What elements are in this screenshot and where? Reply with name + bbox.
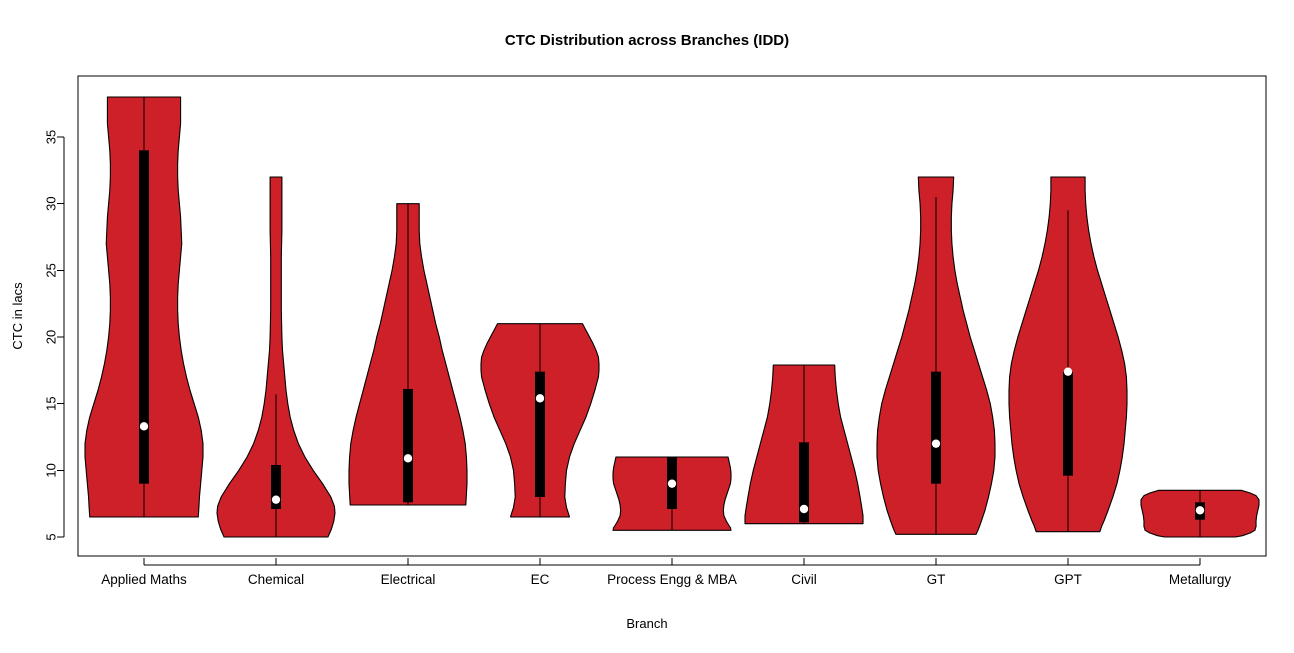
x-axis-tick-label: Chemical <box>248 572 304 587</box>
median-dot <box>536 394 544 402</box>
median-dot <box>404 454 412 462</box>
median-dot <box>1064 367 1072 375</box>
iqr-box <box>931 372 941 484</box>
chart-title: CTC Distribution across Branches (IDD) <box>505 32 789 49</box>
iqr-box <box>1063 372 1073 476</box>
y-axis-tick-label: 30 <box>44 196 59 210</box>
y-axis-tick-label: 10 <box>44 463 59 477</box>
violin-plot: CTC Distribution across Branches (IDD) C… <box>0 0 1294 653</box>
median-dot <box>272 495 280 503</box>
chart-root: CTC Distribution across Branches (IDD) C… <box>0 0 1294 653</box>
x-axis-tick-label: Metallurgy <box>1169 572 1232 587</box>
y-axis-title: CTC in lacs <box>10 282 25 350</box>
x-axis-tick-label: Applied Maths <box>101 572 187 587</box>
x-axis-tick-label: EC <box>531 572 550 587</box>
violin-metallurgy <box>1141 490 1259 537</box>
iqr-box <box>535 372 545 497</box>
y-axis-tick-label: 20 <box>44 330 59 344</box>
y-axis-tick-label: 25 <box>44 263 59 277</box>
median-dot <box>932 439 940 447</box>
y-axis-tick-label: 5 <box>44 533 59 540</box>
median-dot <box>800 505 808 513</box>
x-axis-tick-label: Process Engg & MBA <box>607 572 737 587</box>
x-axis-tick-label: GPT <box>1054 572 1082 587</box>
y-axis-tick-label: 35 <box>44 130 59 144</box>
x-axis-tick-label: Electrical <box>381 572 436 587</box>
y-axis-tick-label: 15 <box>44 396 59 410</box>
iqr-box <box>139 150 149 483</box>
median-dot <box>140 422 148 430</box>
x-axis-tick-label: GT <box>927 572 946 587</box>
x-axis-tick-label: Civil <box>791 572 817 587</box>
violin-process-engg-mba <box>613 457 731 530</box>
x-axis-title: Branch <box>626 616 667 631</box>
median-dot <box>1196 506 1204 514</box>
median-dot <box>668 479 676 487</box>
iqr-box <box>403 389 413 502</box>
